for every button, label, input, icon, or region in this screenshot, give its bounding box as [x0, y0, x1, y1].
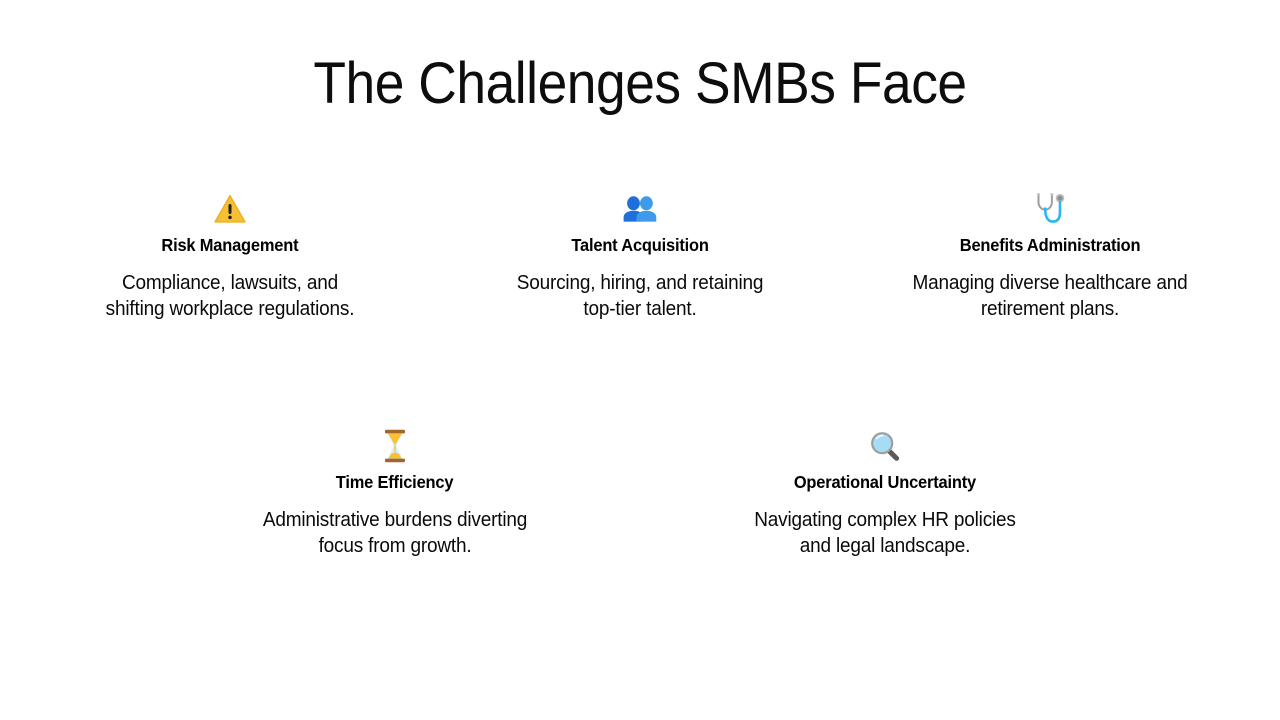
hourglass-icon — [383, 425, 407, 467]
warning-triangle-icon — [214, 188, 246, 230]
busts-in-silhouette-icon — [623, 188, 657, 230]
card-title: Operational Uncertainty — [794, 471, 976, 493]
card-body: Navigating complex HR policies and legal… — [744, 507, 1025, 559]
card-benefits-administration[interactable]: Benefits Administration Managing diverse… — [900, 188, 1200, 322]
card-title: Time Efficiency — [336, 471, 454, 493]
card-row-bottom: Time Efficiency Administrative burdens d… — [0, 425, 1280, 559]
stethoscope-icon — [1033, 188, 1067, 230]
card-title: Talent Acquisition — [571, 234, 708, 256]
card-title: Risk Management — [161, 234, 298, 256]
card-title: Benefits Administration — [960, 234, 1141, 256]
card-row-top: Risk Management Compliance, lawsuits, an… — [0, 188, 1280, 322]
slide-canvas: The Challenges SMBs Face Risk Management… — [0, 0, 1280, 720]
page-title: The Challenges SMBs Face — [51, 48, 1229, 120]
card-body: Compliance, lawsuits, and shifting workp… — [103, 270, 358, 322]
card-time-efficiency[interactable]: Time Efficiency Administrative burdens d… — [245, 425, 545, 559]
card-body: Administrative burdens diverting focus f… — [254, 507, 535, 559]
card-talent-acquisition[interactable]: Talent Acquisition Sourcing, hiring, and… — [490, 188, 790, 322]
card-body: Managing diverse healthcare and retireme… — [909, 270, 1190, 322]
magnifying-glass-icon — [869, 425, 901, 467]
card-operational-uncertainty[interactable]: Operational Uncertainty Navigating compl… — [735, 425, 1035, 559]
card-body: Sourcing, hiring, and retaining top-tier… — [499, 270, 780, 322]
card-risk-management[interactable]: Risk Management Compliance, lawsuits, an… — [80, 188, 380, 322]
